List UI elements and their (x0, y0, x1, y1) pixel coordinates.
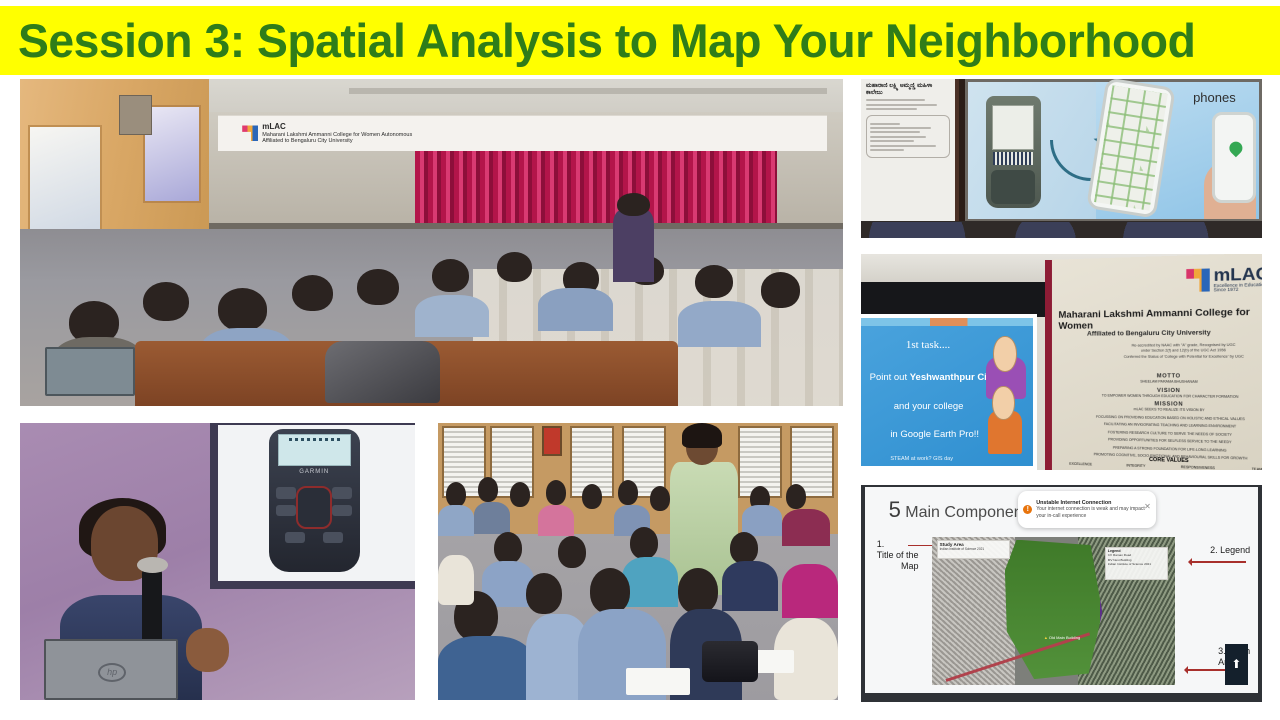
notice-inner-box (866, 115, 950, 158)
standing-participant-hair (682, 423, 722, 448)
attendee-torso (622, 557, 678, 607)
held-smartphone-graphic (1212, 112, 1256, 202)
college-information-board: mLAC Excellence in Education Since 1972 … (1045, 254, 1262, 470)
photo-audience (438, 423, 838, 700)
mlac-logo-icon (242, 125, 258, 141)
attendee-head (478, 477, 498, 502)
notice-line (870, 140, 914, 142)
wall-portrait (542, 426, 562, 456)
backpack (325, 341, 440, 403)
screen-top-dark-band (861, 282, 1053, 317)
title-banner: Session 3: Spatial Analysis to Map Your … (0, 6, 1280, 75)
kannada-notice-board: ಮಹಾರಾಣಿ ಲಕ್ಷ್ಮಿ ಅಮ್ಮಣ್ಣಿ ಮಹಿಳಾ ಕಾಲೇಜು (861, 79, 959, 232)
components-slide: 5 Main Components ! Unstable Internet Co… (865, 487, 1258, 693)
attendee-head (582, 484, 602, 509)
board-sections: MOTTO SHEELAM PARAMA BHUSHANAM VISION TO… (1070, 374, 1262, 466)
attendee-head (730, 532, 758, 564)
board-vision-text: TO EMPOWER WOMEN THROUGH EDUCATION FOR C… (1070, 393, 1262, 399)
attendee-head (497, 252, 532, 281)
hall-banner-college-name: Maharani Lakshmi Ammanni College for Wom… (262, 132, 412, 139)
components-slide-title: 5 Main Components (889, 497, 1036, 523)
core-value-2: INTEGRITY (1127, 464, 1146, 469)
gps-keypad (991, 170, 1035, 204)
map-legend-box: Legend CV Raman Road MV Nest Building In… (1105, 547, 1168, 580)
phone-map-canvas (1094, 85, 1167, 210)
hp-laptop: hp (44, 639, 178, 700)
annotation-title-of-map: 1. Title of the Map (877, 539, 919, 573)
attendee-head (446, 482, 466, 507)
mlac-logo-icon (1187, 269, 1211, 293)
slide-progress-bar (861, 318, 1033, 325)
attendee-head (510, 482, 530, 507)
north-arrow-icon: ⬆ (1225, 644, 1249, 685)
handheld-gps-graphic (986, 96, 1041, 208)
attendee-torso-front (438, 636, 534, 700)
hp-logo: hp (98, 663, 127, 682)
board-accreditation: Re-accredited by NAAC with "A" grade, Re… (1092, 343, 1262, 361)
attendee-torso (415, 295, 489, 338)
attendee-head (761, 272, 801, 308)
cartoon-face-bottom (992, 386, 1015, 420)
core-value-1: EXCELLENCE (1070, 463, 1093, 468)
garmin-display (278, 434, 351, 466)
attendee-torso (538, 505, 574, 537)
hall-banner-affiliation: Affiliated to Bengaluru City University (262, 138, 412, 145)
annotation-2-arrow (1191, 561, 1246, 563)
close-icon[interactable]: ✕ (1144, 502, 1151, 511)
gps-display (992, 105, 1034, 150)
task-slide-line3: and your college (894, 401, 964, 412)
attendee-head (357, 269, 398, 305)
warning-icon: ! (1023, 505, 1032, 514)
attendee-head (494, 532, 522, 564)
speaker-hand (186, 628, 229, 672)
attendee-head (618, 480, 638, 505)
presenter-head (617, 193, 650, 216)
notice-line (866, 104, 937, 106)
core-value-3: RESPONSIVENESS (1181, 466, 1215, 470)
garmin-button (332, 487, 352, 498)
garmin-button (276, 505, 296, 516)
garmin-button-enter (323, 532, 343, 543)
notice-line (870, 127, 931, 129)
handout-paper (626, 668, 690, 695)
components-title-rest: Main Components (901, 504, 1035, 521)
board-mission-line-1: FOCUSSING ON PROVIDING EDUCATION BASED O… (1070, 414, 1262, 421)
attendee-torso (782, 564, 838, 619)
board-motto-text: SHEELAM PARAMA BHUSHANAM (1070, 380, 1262, 385)
hall-banner-logo-text: mLAC (262, 122, 412, 132)
annotation-legend: 2. Legend (1210, 545, 1250, 556)
gps-satellite-bars (993, 152, 1033, 165)
map-title-box: Study Area Indian Institute of Science 2… (937, 540, 1010, 559)
notice-title: ಮಹಾರಾಣಿ ಲಕ್ಷ್ಮಿ ಅಮ್ಮಣ್ಣಿ ಮಹಿಳಾ ಕಾಲೇಜು (866, 83, 950, 97)
projection-screen: phones (965, 79, 1262, 222)
board-affiliation: Affiliated to Bengaluru City University (1087, 329, 1262, 338)
task-slide-line4: in Google Earth Pro!! (890, 429, 979, 440)
notice-line (870, 131, 920, 133)
task-slide-line2-prefix: Point out (870, 372, 910, 383)
projection-screen-frame: GARMIN (210, 423, 415, 589)
board-accreditation-line3: Conferred the Status of 'College with Po… (1092, 354, 1262, 360)
backpack (702, 641, 758, 682)
plastic-chair (438, 555, 474, 605)
study-area-map: Study Area Indian Institute of Science 2… (932, 537, 1176, 685)
annotation-2-label: 2. Legend (1210, 545, 1250, 556)
notice-line (870, 136, 926, 138)
map-building-label: Old Main Building (1044, 635, 1080, 640)
notice-line (870, 123, 900, 125)
attendee-torso (678, 301, 760, 347)
presenter-standing (613, 210, 654, 282)
hall-window-second (143, 105, 201, 203)
attendee-torso (438, 505, 474, 537)
task-slide-footer: STEAM at work? GIS day (890, 456, 953, 462)
wall-picture-frame (119, 95, 152, 134)
photo-first-task-slide: 1st task.... Point out Yeshwanthpur Circ… (861, 254, 1262, 470)
photo-five-main-components: 5 Main Components ! Unstable Internet Co… (861, 485, 1262, 702)
attendee-head (630, 527, 658, 559)
core-value-4: TEAMWORK (1252, 468, 1262, 470)
attendee-head-front (526, 573, 562, 614)
garmin-device-graphic: GARMIN (269, 429, 360, 572)
attendee-head (695, 265, 733, 298)
board-logo-text: mLAC Excellence in Education Since 1972 (1214, 266, 1262, 292)
notice-line (866, 108, 917, 110)
attendee-head-front (678, 568, 718, 613)
audience-seating-rows (438, 473, 838, 700)
attendee-head (558, 536, 586, 568)
toast-body: Your internet connection is weak and may… (1036, 506, 1151, 520)
attendee-head (292, 275, 333, 311)
attendee-head (432, 259, 469, 292)
attendee-torso (538, 288, 612, 331)
task-slide-line2: Point out Yeshwanthpur Circle (870, 372, 1004, 383)
garmin-button-quit (285, 532, 305, 543)
slide-phones-label: phones (1193, 90, 1236, 105)
notice-line (866, 99, 925, 101)
laptop (45, 347, 136, 396)
unstable-connection-toast[interactable]: ! Unstable Internet Connection Your inte… (1018, 491, 1156, 528)
attendee-head (546, 480, 566, 505)
notice-line (870, 145, 936, 147)
map-pin-icon (1227, 139, 1245, 157)
garmin-bar-graph (289, 438, 340, 442)
board-logo: mLAC Excellence in Education Since 1972 (1179, 260, 1262, 300)
annotation-1-line2: Map (877, 561, 919, 572)
components-title-number: 5 (889, 497, 901, 522)
attendee-torso (722, 561, 778, 611)
task-slide-inner: 1st task.... Point out Yeshwanthpur Circ… (861, 318, 1033, 466)
board-mission-line-2: FACILITATING AN INVIGORATING TEACHING AN… (1070, 422, 1262, 430)
photo-gps-slide: ಮಹಾರಾಣಿ ಲಕ್ಷ್ಮಿ ಅಮ್ಮಣ್ಣಿ ಮಹಿಳಾ ಕಾಲೇಜು ph… (861, 79, 1262, 238)
map-legend-row-3: Indian Institute of Science 2021 (1108, 562, 1165, 567)
annotation-1-line1: Title of the (877, 550, 919, 561)
task-slide-line1: 1st task.... (906, 339, 950, 351)
chair-backs (861, 222, 1262, 238)
garmin-brand-label: GARMIN (269, 469, 360, 475)
photo-seminar-hall-wide: mLAC Maharani Lakshmi Ammanni College fo… (20, 79, 843, 406)
hall-banner: mLAC Maharani Lakshmi Ammanni College fo… (218, 115, 827, 151)
garmin-dpad (296, 486, 332, 529)
task-slide: 1st task.... Point out Yeshwanthpur Circ… (861, 314, 1037, 470)
attendee-head (786, 484, 806, 509)
attendee-torso (474, 502, 510, 534)
collage-page: Session 3: Spatial Analysis to Map Your … (0, 0, 1280, 720)
cartoon-face-top (993, 336, 1017, 372)
garmin-button (276, 487, 296, 498)
page-title: Session 3: Spatial Analysis to Map Your … (18, 17, 1195, 64)
hall-window-left (28, 125, 102, 236)
board-mission-text: mLAC SEEKS TO REALIZE ITS VISION BY (1070, 407, 1262, 414)
garmin-button (332, 505, 352, 516)
attendee-head-front (590, 568, 630, 613)
attendee-head (650, 486, 670, 511)
board-logo-sub-2: Since 1972 (1214, 287, 1262, 293)
stage-curtain (415, 144, 777, 229)
notice-line (870, 149, 904, 151)
map-subtitle-text: Indian Institute of Science 2021 (940, 547, 1007, 551)
attendee-torso (782, 509, 830, 545)
attendee-head (143, 282, 188, 321)
cartoon-characters (985, 333, 1026, 454)
photo-resource-person: GARMIN hp (20, 423, 415, 700)
attendee-head (218, 288, 267, 331)
